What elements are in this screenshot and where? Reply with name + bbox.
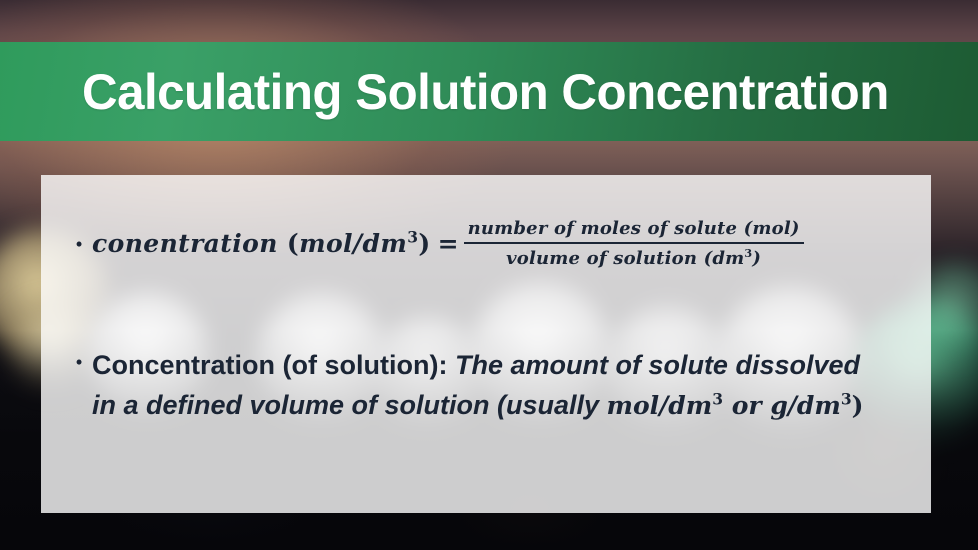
formula-lhs-paren-open: ( bbox=[287, 229, 299, 258]
formula-denominator: volume of solution (dm3) bbox=[502, 244, 765, 269]
denominator-paren-close: ) bbox=[752, 248, 761, 269]
bullet-item-definition: • Concentration (of solution): The amoun… bbox=[66, 345, 926, 426]
numerator-unit: mol bbox=[752, 218, 791, 239]
denominator-label: volume of solution bbox=[506, 248, 704, 269]
bullet-point-icon: • bbox=[66, 352, 92, 373]
denominator-unit: dm bbox=[712, 248, 744, 269]
unit-mass-exponent: 3 bbox=[841, 390, 852, 409]
numerator-label: number of moles of solute bbox=[468, 218, 744, 239]
formula-lhs-unit: mol/dm bbox=[299, 229, 407, 258]
concentration-definition: Concentration (of solution): The amount … bbox=[92, 345, 882, 426]
unit-mass: g/dm bbox=[770, 391, 841, 420]
slide: Calculating Solution Concentration • con… bbox=[0, 0, 978, 550]
formula-left-hand-side: conentration (mol/dm3) bbox=[92, 229, 431, 258]
title-banner: Calculating Solution Concentration bbox=[0, 42, 978, 141]
bullet-item-formula: • conentration (mol/dm3) = number of mol… bbox=[66, 218, 916, 269]
content-panel-inner: • conentration (mol/dm3) = number of mol… bbox=[41, 175, 931, 513]
content-panel: • conentration (mol/dm3) = number of mol… bbox=[41, 175, 931, 513]
slide-title: Calculating Solution Concentration bbox=[82, 67, 889, 117]
formula-lhs-paren-close: ) bbox=[418, 229, 430, 258]
unit-joiner: or bbox=[723, 391, 770, 420]
definition-term: Concentration (of solution): bbox=[92, 350, 455, 380]
unit-molar-exponent: 3 bbox=[712, 390, 723, 409]
formula-lhs-unit-exponent: 3 bbox=[407, 228, 418, 247]
unit-molar: mol/dm bbox=[607, 391, 713, 420]
unit-paren-close: ) bbox=[852, 391, 864, 420]
definition-units: mol/dm3 or g/dm3) bbox=[607, 391, 864, 420]
formula-fraction: number of moles of solute (mol) volume o… bbox=[464, 218, 804, 269]
formula-equals-sign: = bbox=[438, 229, 459, 258]
formula-lhs-label: conentration bbox=[92, 229, 287, 258]
numerator-paren-close: ) bbox=[791, 218, 800, 239]
concentration-formula: conentration (mol/dm3) = number of moles… bbox=[92, 218, 804, 269]
bullet-point-icon: • bbox=[66, 234, 92, 255]
formula-numerator: number of moles of solute (mol) bbox=[464, 218, 804, 242]
